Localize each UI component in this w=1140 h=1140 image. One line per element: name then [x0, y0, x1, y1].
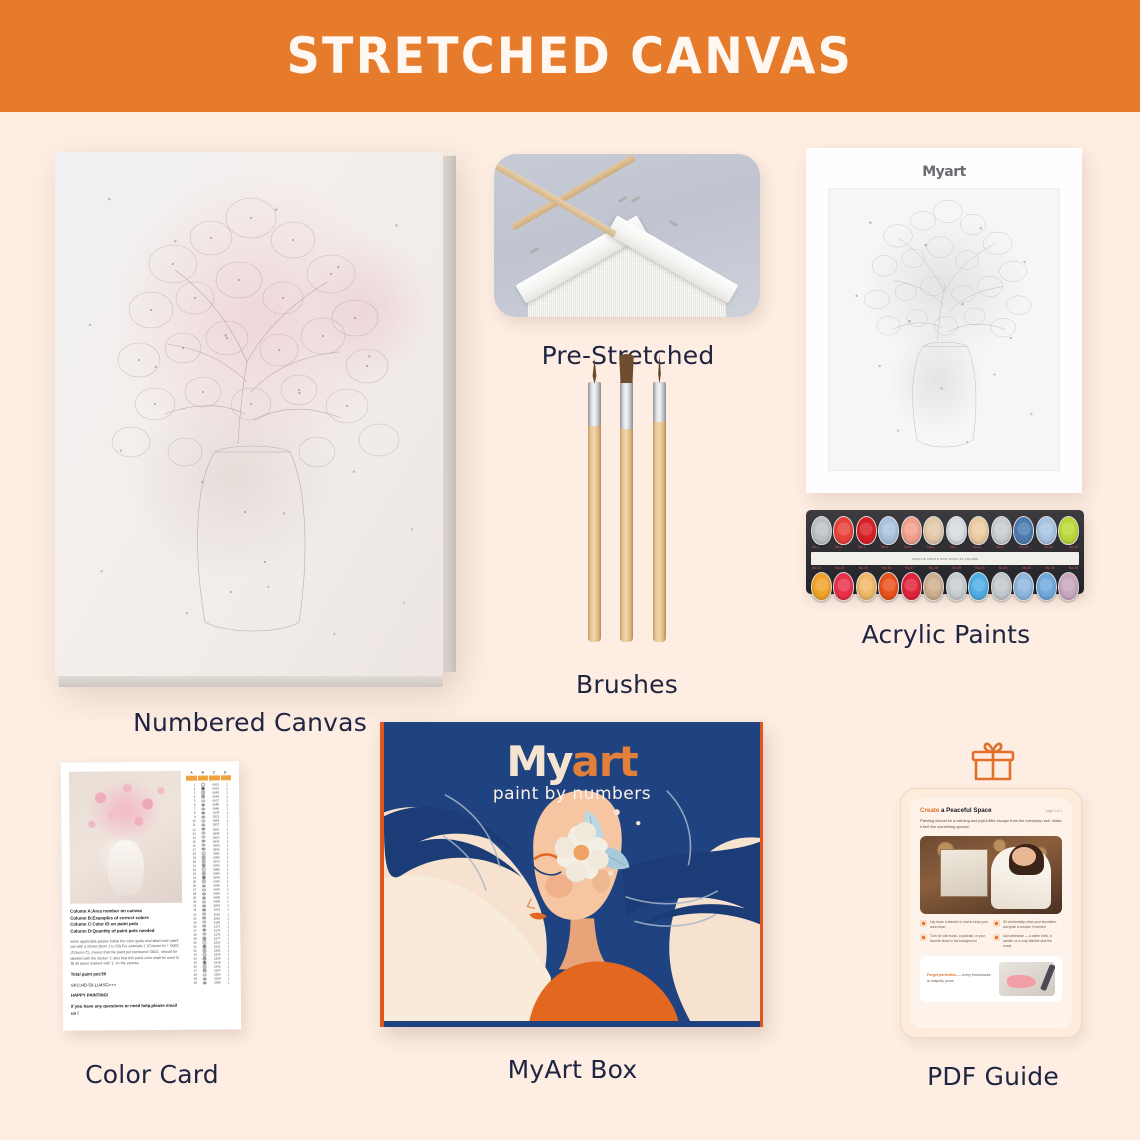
- tip-icon: [920, 920, 927, 927]
- color-card-swatch: [199, 933, 210, 936]
- color-card-text: Column A:Area number on canvas Column B:…: [70, 908, 183, 1017]
- pdf-guide-title: Create a Peaceful Space: [920, 807, 992, 814]
- color-card-color-id: 2380: [210, 981, 224, 985]
- color-card-swatch: [198, 860, 209, 863]
- color-card-swatch: [197, 795, 208, 798]
- color-card-swatch: [199, 929, 210, 932]
- color-card-row: 5023801: [188, 981, 233, 985]
- color-card-col-header: B: [197, 770, 208, 774]
- pdf-guide-tips: Lay down a blanket or mat to keep your a…: [920, 920, 1062, 949]
- paint-strip-text: ACRYLIC PAINTS NON-TOXIC 24 COLORS: [811, 557, 1079, 561]
- acrylic-paints-tray: No.1No.2No.3No.4No.5No.6No.7No.8No.9No.1…: [806, 510, 1084, 594]
- tip-text: Lay down a blanket or mat to keep your a…: [930, 920, 988, 930]
- tip-icon: [920, 934, 927, 941]
- color-card-happy: HAPPY PAINTING!: [71, 992, 183, 1000]
- paint-pot[interactable]: [1058, 516, 1079, 545]
- paint-pot[interactable]: [901, 572, 922, 601]
- paint-pot[interactable]: [833, 516, 854, 545]
- pdf-guide-page: Create a Peaceful Space page 1 of 1 Pain…: [910, 798, 1072, 1028]
- color-card-swatch: [197, 791, 208, 794]
- page-header: STRETCHED CANVAS: [0, 0, 1140, 112]
- color-card-swatch: [198, 864, 209, 867]
- paint-pot-label: No.11: [1044, 545, 1053, 551]
- brush-detail: [653, 354, 666, 642]
- caption-myart-box: MyArt Box: [380, 1055, 765, 1084]
- paint-pot[interactable]: [968, 572, 989, 601]
- pdf-title-accent: Create: [920, 807, 939, 814]
- reference-sheet-logo: Myart: [824, 164, 1064, 180]
- color-card-swatch: [199, 924, 210, 927]
- color-card-rows: 1000112000313006514006915001716008517008…: [186, 782, 233, 985]
- staple-icon: [669, 220, 678, 227]
- easel-shape: [940, 849, 988, 897]
- brush-flat: [620, 350, 633, 642]
- caption-pdf-guide: PDF Guide: [900, 1062, 1086, 1091]
- paint-tray-strip: ACRYLIC PAINTS NON-TOXIC 24 COLORS: [811, 552, 1079, 565]
- paint-pot[interactable]: [811, 516, 832, 545]
- color-card-swatch: [198, 868, 209, 871]
- reference-sheet-image: Myart: [806, 148, 1082, 493]
- color-card-swatch: [198, 892, 209, 895]
- tip-text: Add ambiance — a warm drink, a candle, o…: [1003, 934, 1061, 949]
- pdf-title-rest: a Peaceful Space: [939, 807, 991, 814]
- staple-icon: [618, 196, 627, 203]
- paint-pot-label: No.24: [1069, 566, 1078, 572]
- canvas-outline-art: [55, 152, 443, 676]
- paint-pot-label: No.1: [812, 545, 819, 551]
- pdf-tip: Lay down a blanket or mat to keep your a…: [920, 920, 988, 930]
- color-card-swatch: [199, 961, 210, 964]
- color-card-swatch: [197, 807, 208, 810]
- paint-pot[interactable]: [856, 572, 877, 601]
- color-card-swatch: [198, 872, 209, 875]
- color-card-area-number: 50: [188, 981, 199, 985]
- paint-pot-label: No.6: [927, 545, 934, 551]
- color-card-swatch: [199, 937, 210, 940]
- product-acrylic-paints[interactable]: No.1No.2No.3No.4No.5No.6No.7No.8No.9No.1…: [806, 510, 1086, 649]
- paint-pot[interactable]: [1013, 516, 1034, 545]
- pdf-guide-header: Create a Peaceful Space page 1 of 1: [920, 807, 1062, 814]
- paint-pot[interactable]: [923, 516, 944, 545]
- color-card-swatch: [198, 900, 209, 903]
- color-card-table: ABCD 10001120003130065140069150017160085…: [186, 770, 233, 1020]
- color-card-sku: SKU:HD-50-LU4SG+++: [71, 981, 183, 989]
- pdf-guide-photo: [920, 836, 1062, 914]
- pdf-tip: Sit comfortably, relax your shoulders, a…: [993, 920, 1061, 930]
- color-card-swatch: [198, 904, 209, 907]
- color-card-swatch: [199, 945, 210, 948]
- pdf-footer-thumbnail: [999, 962, 1055, 996]
- paint-pot[interactable]: [1013, 572, 1034, 601]
- color-card-photo: [69, 771, 182, 904]
- paint-labels-top: No.1No.2No.3No.4No.5No.6No.7No.8No.9No.1…: [811, 545, 1079, 551]
- color-card-swatch: [197, 803, 208, 806]
- paint-pot-label: No.8: [973, 545, 980, 551]
- tip-text: Turn on soft music, a podcast, or your f…: [930, 934, 988, 949]
- product-color-card[interactable]: Column A:Area number on canvas Column B:…: [62, 762, 242, 1089]
- pre-stretched-image: [494, 154, 760, 317]
- color-card-swatch: [199, 969, 210, 972]
- person-head-shape: [1012, 847, 1036, 866]
- myart-box-image: Myart paint by numbers: [380, 722, 763, 1027]
- reference-outline-art: [829, 189, 1059, 470]
- numbered-canvas-image: [55, 152, 443, 676]
- paint-pot-label: No.10: [1019, 545, 1028, 551]
- paint-row-top: [811, 516, 1079, 545]
- color-card-swatch: [198, 888, 209, 891]
- page-title: STRETCHED CANVAS: [287, 27, 853, 85]
- color-card-swatch: [199, 965, 210, 968]
- paint-pot[interactable]: [811, 572, 832, 601]
- color-card-swatch: [198, 916, 209, 919]
- product-brushes[interactable]: Brushes: [496, 350, 758, 699]
- paint-pot-label: No.4: [881, 545, 888, 551]
- paint-pot-label: No.5: [904, 545, 911, 551]
- color-card-total-pots: Total paint pot:50: [71, 971, 183, 979]
- color-card-swatch: [197, 787, 208, 790]
- color-card-swatch: [198, 880, 209, 883]
- paint-pot[interactable]: [1058, 572, 1079, 601]
- paint-pot-label: No.7: [950, 545, 957, 551]
- color-card-swatch: [198, 819, 209, 822]
- color-card-swatch: [199, 949, 210, 952]
- reference-sheet-artwork: [828, 188, 1060, 471]
- color-card-swatch: [199, 977, 210, 980]
- product-grid: Numbered Canvas Pre-Stretched Myart: [0, 112, 1140, 1140]
- color-card-swatch: [198, 827, 209, 830]
- color-card-swatch: [199, 953, 210, 956]
- caption-brushes: Brushes: [496, 670, 758, 699]
- myart-logo-my: My: [506, 737, 571, 786]
- tip-icon: [993, 934, 1000, 941]
- paint-pot[interactable]: [833, 572, 854, 601]
- pdf-guide-image: Create a Peaceful Space page 1 of 1 Pain…: [900, 788, 1082, 1038]
- color-card-swatch: [199, 981, 210, 984]
- color-card-swatch: [198, 839, 209, 842]
- color-card-instructions: when applicable,please follow the color …: [70, 938, 182, 967]
- product-pre-stretched[interactable]: Pre-Stretched: [494, 154, 762, 370]
- paint-pot[interactable]: [991, 572, 1012, 601]
- paint-pot-label: No.9: [996, 545, 1003, 551]
- paint-pot[interactable]: [878, 572, 899, 601]
- color-card-swatch: [198, 852, 209, 855]
- paint-pot[interactable]: [878, 516, 899, 545]
- brushes-image: [496, 350, 758, 642]
- pdf-footer-text: Forget perfection — every brushstroke is…: [927, 973, 993, 984]
- paint-pot[interactable]: [1036, 516, 1057, 545]
- color-card-swatch: [198, 823, 209, 826]
- paint-pot-label: No.12: [1069, 545, 1078, 551]
- paint-pot[interactable]: [1036, 572, 1057, 601]
- tip-text: Sit comfortably, relax your shoulders, a…: [1003, 920, 1061, 930]
- tip-icon: [993, 920, 1000, 927]
- paint-pot[interactable]: [991, 516, 1012, 545]
- color-card-support: if you have any questions or need help,p…: [71, 1003, 183, 1017]
- color-card-swatch: [199, 941, 210, 944]
- myart-box-logo-block: Myart paint by numbers: [384, 737, 760, 804]
- color-card-swatch: [197, 799, 208, 802]
- pdf-footer-accent: Forget perfection: [927, 973, 957, 977]
- myart-box-subtitle: paint by numbers: [384, 784, 760, 804]
- color-card-swatch: [198, 920, 209, 923]
- paint-pot-label: No.3: [858, 545, 865, 551]
- color-card-quantity: 1: [225, 981, 233, 985]
- canvas-side-edge: [442, 156, 456, 673]
- pdf-tip: Turn on soft music, a podcast, or your f…: [920, 934, 988, 949]
- paint-row-bottom: [811, 572, 1079, 601]
- pdf-guide-description: Painting should be a calming and joyful …: [920, 818, 1062, 830]
- paint-pot[interactable]: [946, 516, 967, 545]
- color-card-col-header: A: [186, 771, 197, 775]
- product-pdf-guide[interactable]: Create a Peaceful Space page 1 of 1 Pain…: [900, 740, 1086, 1091]
- color-card-image: Column A:Area number on canvas Column B:…: [61, 761, 241, 1031]
- paint-pot[interactable]: [923, 572, 944, 601]
- color-card-swatch: [198, 884, 209, 887]
- paint-pot-label: No.2: [835, 545, 842, 551]
- color-card-swatch: [198, 815, 209, 818]
- color-card-left: Column A:Area number on canvas Column B:…: [69, 771, 183, 1022]
- product-numbered-canvas[interactable]: Numbered Canvas: [55, 152, 445, 737]
- color-card-col-header: D: [220, 770, 231, 774]
- color-card-bars: [186, 775, 231, 780]
- paint-pot[interactable]: [901, 516, 922, 545]
- canvas-face: [55, 152, 443, 676]
- staple-icon: [631, 196, 640, 203]
- color-card-table-header: ABCD: [186, 770, 231, 774]
- color-card-swatch: [198, 844, 209, 847]
- color-card-swatch: [198, 896, 209, 899]
- pdf-guide-page-number: page 1 of 1: [1046, 809, 1062, 813]
- myart-logo-art: art: [572, 737, 638, 786]
- color-card-column-d: Column D:Quantity of paint pots needed: [70, 928, 182, 936]
- color-card-swatch: [197, 783, 208, 786]
- gift-icon: [966, 740, 1020, 782]
- color-card-swatch: [198, 912, 209, 915]
- color-card-col-header: C: [208, 770, 219, 774]
- brush-round: [588, 362, 601, 642]
- paint-pot[interactable]: [968, 516, 989, 545]
- staple-icon: [530, 247, 539, 254]
- pdf-tip: Add ambiance — a warm drink, a candle, o…: [993, 934, 1061, 949]
- color-card-swatch: [198, 831, 209, 834]
- color-card-swatch: [198, 908, 209, 911]
- color-card-swatch: [199, 957, 210, 960]
- color-card-swatch: [198, 848, 209, 851]
- paint-pot[interactable]: [946, 572, 967, 601]
- product-reference-sheet[interactable]: Myart: [806, 148, 1086, 548]
- color-card-swatch: [198, 876, 209, 879]
- color-card-swatch: [199, 973, 210, 976]
- caption-acrylic-paints: Acrylic Paints: [806, 620, 1086, 649]
- canvas-bottom-edge: [59, 675, 443, 687]
- product-myart-box[interactable]: Myart paint by numbers MyArt Box: [380, 722, 765, 1084]
- caption-color-card: Color Card: [62, 1060, 242, 1089]
- color-card-swatch: [198, 856, 209, 859]
- color-card-swatch: [198, 811, 209, 814]
- paint-pot[interactable]: [856, 516, 877, 545]
- color-card-swatch: [198, 835, 209, 838]
- pdf-guide-footer: Forget perfection — every brushstroke is…: [920, 956, 1062, 1002]
